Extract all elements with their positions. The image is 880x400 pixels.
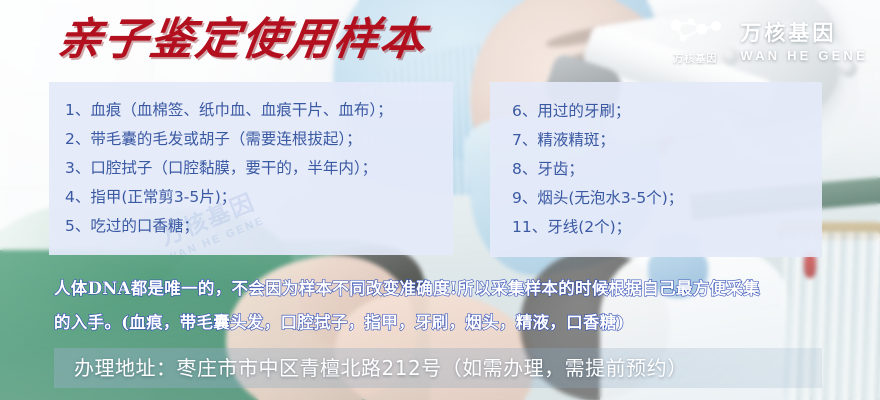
list-item: 6、用过的牙刷； [512, 97, 812, 126]
list-item: 11、牙线(2个)； [512, 213, 812, 242]
panel-watermark-left-small: 万核基因 WAN HE GENE [102, 251, 185, 255]
list-item: 1、血痕（血棉签、纸巾血、血痕干片、血布）； [65, 96, 443, 125]
list-item: 8、牙齿； [512, 155, 812, 184]
list-item: 5、吃过的口香糖； [65, 212, 443, 241]
list-item: 3、口腔拭子（口腔黏膜，要干的，半年内）； [65, 154, 443, 183]
page-title: 亲子鉴定使用样本 [55, 18, 429, 62]
molecule-icon [664, 14, 726, 48]
description-paragraph: 人体DNA都是唯一的，不会因为样本不同改变准确度!所以采集样本的时候根据自己最方… [54, 272, 844, 340]
poster-root: 亲子鉴定使用样本 万核基因 万核基因 WAN HE GENE [0, 0, 880, 400]
sample-list-panel-left: 万核基因 WAN HE GENE 万核基因 WAN HE GENE 1、血痕（血… [49, 82, 453, 255]
brand-mark: 万核基因 [664, 14, 726, 65]
list-item: 7、精液精斑； [512, 126, 812, 155]
sample-list-right: 6、用过的牙刷； 7、精液精斑； 8、牙齿； 9、烟头(无泡水3-5个)； 11… [490, 82, 822, 242]
paragraph-line-1: 人体DNA都是唯一的，不会因为样本不同改变准确度!所以采集样本的时候根据自己最方… [54, 272, 844, 306]
brand-logo: 万核基因 万核基因 WAN HE GENE [664, 14, 868, 65]
watermark-cn: 万核基因 [104, 251, 180, 255]
brand-mark-caption: 万核基因 [673, 50, 717, 65]
sample-list-panel-right: 万核基因 WAN HE GENE 6、用过的牙刷； 7、精液精斑； 8、牙齿； … [490, 82, 822, 257]
brand-name-cn: 万核基因 [740, 17, 868, 47]
paragraph-line-2: 的入手。(血痕，带毛囊头发，口腔拭子，指甲，牙刷，烟头，精液，口香糖) [54, 306, 844, 340]
watermark-molecule-icon [144, 254, 214, 255]
list-item: 4、指甲(正常剪3-5片)； [65, 183, 443, 212]
address-text: 办理地址：枣庄市市中区青檀北路212号（如需办理，需提前预约） [74, 352, 688, 384]
list-item: 9、烟头(无泡水3-5个)； [512, 184, 812, 213]
list-item: 2、带毛囊的毛发或胡子（需要连根拔起）； [65, 125, 443, 154]
sample-list-left: 1、血痕（血棉签、纸巾血、血痕干片、血布）； 2、带毛囊的毛发或胡子（需要连根拔… [49, 82, 453, 241]
brand-text: 万核基因 WAN HE GENE [740, 17, 868, 63]
brand-name-en: WAN HE GENE [740, 48, 868, 63]
